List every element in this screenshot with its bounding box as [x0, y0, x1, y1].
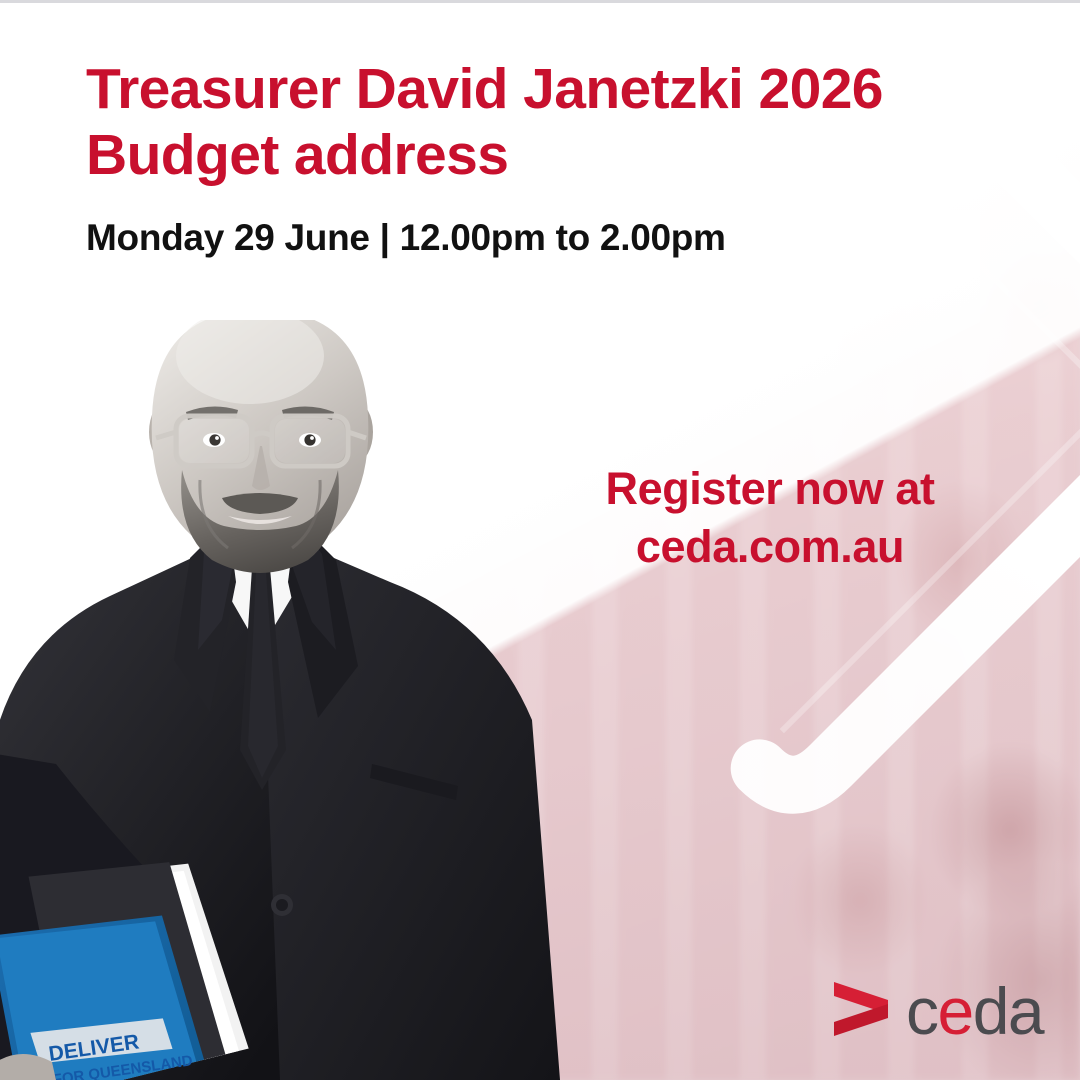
promo-canvas: DELIVER FOR QUEENSLAND Treasurer David J…: [0, 0, 1080, 1080]
chevron-right-icon: [832, 980, 894, 1043]
top-divider: [0, 0, 1080, 3]
logo-letters-da: da: [973, 974, 1043, 1048]
cta-register[interactable]: Register now at ceda.com.au: [560, 460, 980, 575]
logo-letter-c: c: [906, 974, 938, 1048]
logo-letter-e: e: [938, 974, 973, 1048]
page-title: Treasurer David Janetzki 2026 Budget add…: [86, 56, 966, 188]
ceda-logo[interactable]: ceda: [832, 978, 1043, 1044]
event-details: Monday 29 June | 12.00pm to 2.00pm: [86, 216, 946, 260]
speaker-portrait: DELIVER FOR QUEENSLAND: [0, 320, 600, 1080]
